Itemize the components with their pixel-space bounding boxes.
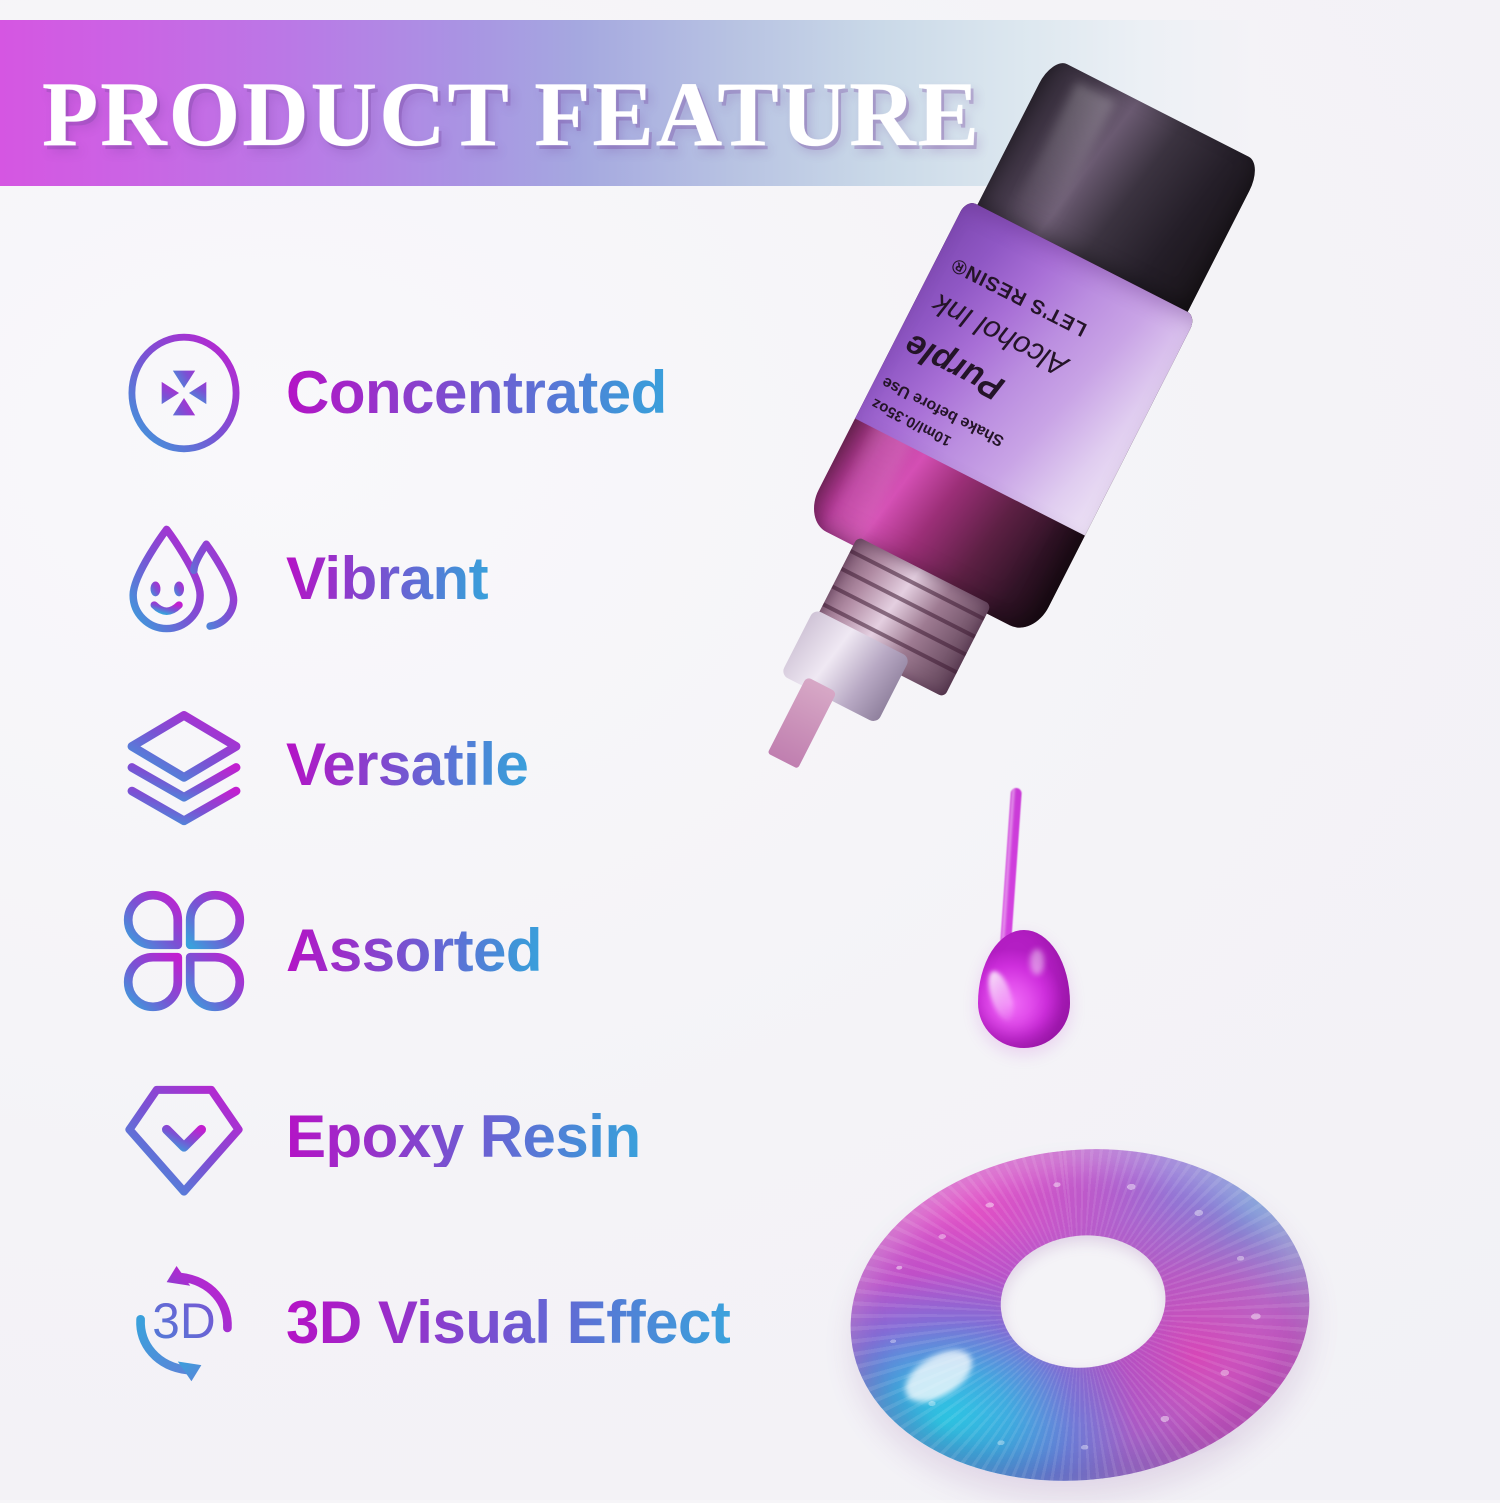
feature-label-3d-visual-effect: 3D Visual Effect: [286, 1293, 730, 1353]
feature-row-concentrated: Concentrated: [0, 300, 820, 486]
feature-label-vibrant: Vibrant: [286, 549, 488, 609]
gem-chevron-icon: [122, 1075, 246, 1199]
infographic-page: PRODUCT FEATURE Concentrated: [0, 0, 1500, 1500]
pendant-center-hole: [994, 1227, 1172, 1376]
four-petals-grid-icon: [122, 889, 246, 1013]
feature-list: Concentrated Vibrant: [0, 300, 820, 1416]
feature-row-assorted: Assorted: [0, 858, 820, 1044]
header-banner: PRODUCT FEATURE: [0, 20, 1258, 186]
label-brand: LET'S RESIN®: [947, 252, 1090, 340]
feature-label-epoxy-resin: Epoxy Resin: [286, 1107, 641, 1167]
resin-ring-pendant: [834, 1127, 1326, 1503]
label-volume: 10ml/0.35oz: [869, 395, 955, 450]
ink-droplet: [978, 930, 1070, 1048]
feature-label-concentrated: Concentrated: [286, 363, 667, 423]
label-instruction: Shake before Use: [879, 372, 1007, 449]
label-color-name: Purple: [898, 325, 1010, 408]
bottle-neck-threads: [810, 537, 991, 698]
feature-row-3d-visual-effect: 3D 3D Visual Effect: [0, 1230, 820, 1416]
stacked-layers-icon: [122, 703, 246, 827]
bottle-body: 10ml/0.35oz Shake before Use Purple Alco…: [803, 199, 1196, 637]
pendant-shadow: [856, 1408, 1308, 1470]
feature-label-assorted: Assorted: [286, 921, 542, 981]
feature-row-versatile: Versatile: [0, 672, 820, 858]
arrows-converge-circle-icon: [122, 331, 246, 455]
pendant-disc: [834, 1127, 1326, 1503]
pendant-ink-texture: [834, 1127, 1326, 1503]
feature-row-epoxy-resin: Epoxy Resin: [0, 1044, 820, 1230]
three-d-icon-text: 3D: [152, 1293, 215, 1349]
pendant-gloss-highlight: [897, 1340, 980, 1412]
product-photo: 10ml/0.35oz Shake before Use Purple Alco…: [760, 0, 1500, 1500]
ink-stream: [999, 788, 1022, 966]
page-title: PRODUCT FEATURE: [42, 68, 981, 160]
label-product-name: Alcohol Ink: [927, 286, 1073, 383]
rotate-3d-icon: 3D: [122, 1261, 246, 1385]
feature-row-vibrant: Vibrant: [0, 486, 820, 672]
bottle-label: 10ml/0.35oz Shake before Use Purple Alco…: [850, 199, 1197, 539]
smiling-droplet-icon: [122, 517, 246, 641]
feature-label-versatile: Versatile: [286, 735, 528, 795]
